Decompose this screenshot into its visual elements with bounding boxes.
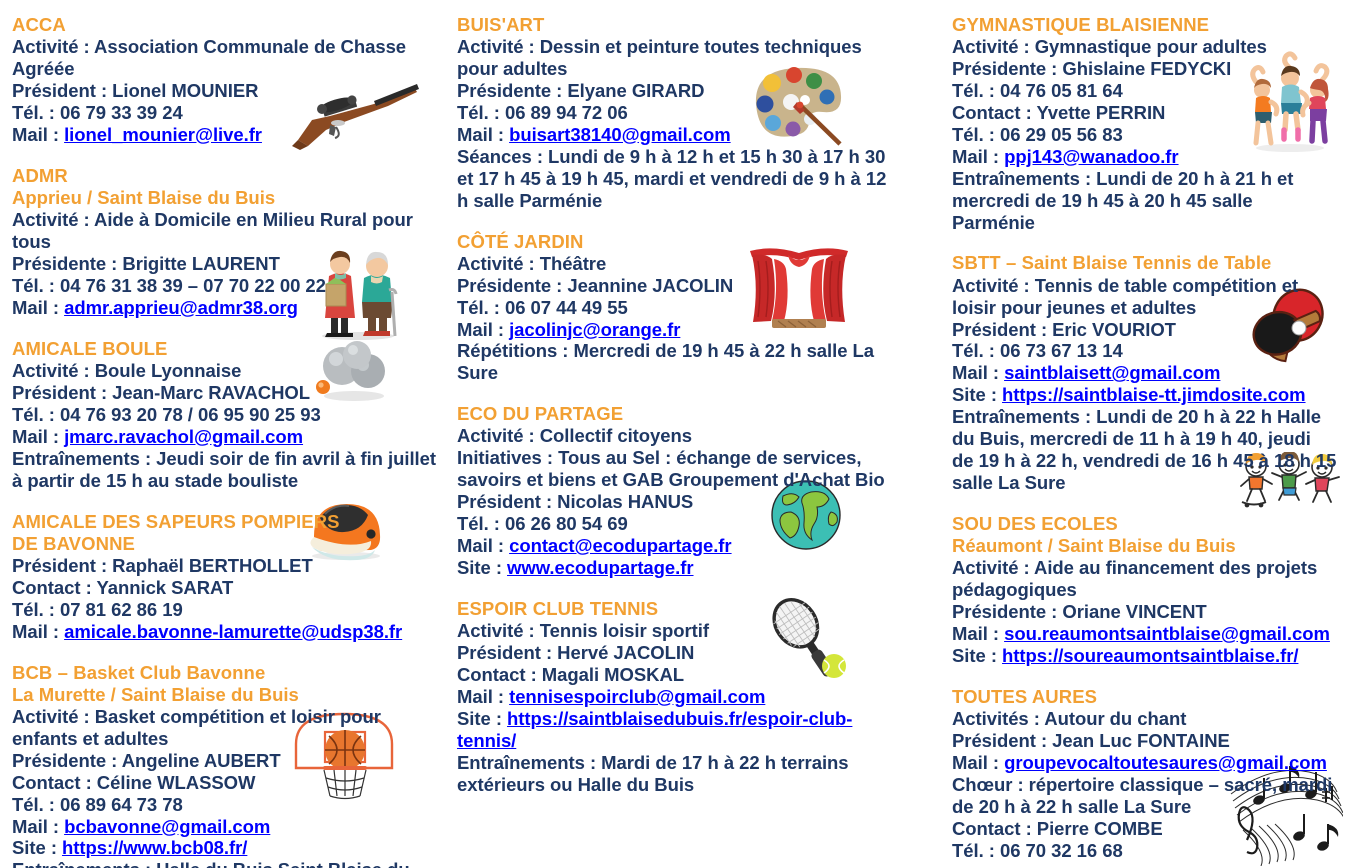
detail-line-link: Mail : contact@ecodupartage.fr (457, 535, 897, 557)
detail-line-link: Site : https://soureaumontsaintblaise.fr… (952, 645, 1337, 667)
association-entry-cote-jardin: CÔTÉ JARDINActivité : ThéâtrePrésidente … (457, 231, 897, 385)
detail-line: Tél. : 06 73 67 13 14 (952, 340, 1337, 362)
association-title: TOUTES AURES (952, 686, 1337, 708)
detail-line-link: Site : https://saintblaisedubuis.fr/espo… (457, 708, 897, 752)
detail-line-link: Mail : buisart38140@gmail.com (457, 124, 897, 146)
detail-line-link: Mail : sou.reaumontsaintblaise@gmail.com (952, 623, 1337, 645)
contact-link[interactable]: jmarc.ravachol@gmail.com (64, 426, 303, 447)
association-title: SBTT – Saint Blaise Tennis de Table (952, 252, 1337, 274)
detail-line-label: Mail : (952, 146, 1004, 167)
detail-line-label: Mail : (457, 535, 509, 556)
contact-link[interactable]: buisart38140@gmail.com (509, 124, 731, 145)
association-title: AMICALE DES SAPEURS POMPIERS (12, 511, 448, 533)
detail-line-link: Site : https://saintblaise-tt.jimdosite.… (952, 384, 1337, 406)
detail-line-link: Mail : saintblaisett@gmail.com (952, 362, 1337, 384)
detail-line-label: Mail : (952, 752, 1004, 773)
detail-line: Présidente : Jeannine JACOLIN (457, 275, 897, 297)
association-entry-amicale-des-sapeurs-pompiers: AMICALE DES SAPEURS POMPIERSDE BAVONNEPr… (12, 511, 448, 643)
association-title: BUIS'ART (457, 14, 897, 36)
detail-line: Contact : Yvette PERRIN (952, 102, 1337, 124)
detail-line: Président : Lionel MOUNIER (12, 80, 448, 102)
detail-line-label: Mail : (457, 319, 509, 340)
detail-line: Activité : Boule Lyonnaise (12, 360, 448, 382)
detail-line: Tél. : 07 81 62 86 19 (12, 599, 448, 621)
detail-line: Présidente : Angeline AUBERT (12, 750, 448, 772)
detail-line: Contact : Magali MOSKAL (457, 664, 897, 686)
detail-line: Contact : Yannick SARAT (12, 577, 448, 599)
association-title: CÔTÉ JARDIN (457, 231, 897, 253)
contact-link[interactable]: https://www.bcb08.fr/ (62, 837, 247, 858)
detail-line-label: Mail : (12, 621, 64, 642)
detail-line-link: Mail : ppj143@wanadoo.fr (952, 146, 1337, 168)
association-title: GYMNASTIQUE BLAISIENNE (952, 14, 1337, 36)
detail-line: Présidente : Oriane VINCENT (952, 601, 1337, 623)
detail-line: Président : Jean Luc FONTAINE (952, 730, 1337, 752)
detail-line-link: Site : www.ecodupartage.fr (457, 557, 897, 579)
detail-line-link: Mail : groupevocaltoutesaures@gmail.com (952, 752, 1337, 774)
association-subtitle: Réaumont / Saint Blaise du Buis (952, 535, 1337, 557)
association-title: ESPOIR CLUB TENNIS (457, 598, 897, 620)
contact-link[interactable]: www.ecodupartage.fr (507, 557, 693, 578)
column-3: GYMNASTIQUE BLAISIENNEActivité : Gymnast… (952, 14, 1337, 862)
detail-line: Tél. : 04 76 93 20 78 / 06 95 90 25 93 (12, 404, 448, 426)
association-entry-espoir-club-tennis: ESPOIR CLUB TENNISActivité : Tennis lois… (457, 598, 897, 796)
detail-line-link: Mail : lionel_mounier@live.fr (12, 124, 448, 146)
contact-link[interactable]: bcbavonne@gmail.com (64, 816, 270, 837)
detail-line: Tél. : 06 89 94 72 06 (457, 102, 897, 124)
detail-line-label: Mail : (457, 124, 509, 145)
association-subtitle: La Murette / Saint Blaise du Buis (12, 684, 448, 706)
contact-link[interactable]: https://saintblaise-tt.jimdosite.com (1002, 384, 1306, 405)
detail-line: Présidente : Ghislaine FEDYCKI (952, 58, 1337, 80)
detail-line: Activité : Aide au financement des proje… (952, 557, 1337, 601)
detail-line-label: Site : (457, 708, 507, 729)
detail-line: Activité : Association Communale de Chas… (12, 36, 448, 80)
detail-line: Entraînements : Lundi de 20 h à 21 h et … (952, 168, 1337, 234)
detail-line: Président : Nicolas HANUS (457, 491, 897, 513)
contact-link[interactable]: https://soureaumontsaintblaise.fr/ (1002, 645, 1298, 666)
detail-line: Entraînements : Halle du Buis Saint Blai… (12, 859, 448, 868)
detail-line-label: Mail : (457, 686, 509, 707)
contact-link[interactable]: sou.reaumontsaintblaise@gmail.com (1004, 623, 1330, 644)
contact-link[interactable]: contact@ecodupartage.fr (509, 535, 732, 556)
detail-line-label: Mail : (12, 426, 64, 447)
detail-line-link: Mail : bcbavonne@gmail.com (12, 816, 448, 838)
association-entry-acca: ACCAActivité : Association Communale de … (12, 14, 448, 146)
association-title: ECO DU PARTAGE (457, 403, 897, 425)
detail-line: Président : Eric VOURIOT (952, 319, 1337, 341)
detail-line-label: Mail : (12, 816, 64, 837)
contact-link[interactable]: ppj143@wanadoo.fr (1004, 146, 1178, 167)
detail-line-label: Mail : (952, 362, 1004, 383)
detail-line-link: Site : https://www.bcb08.fr/ (12, 837, 448, 859)
detail-line-label: Site : (952, 645, 1002, 666)
detail-line: Tél. : 06 79 33 39 24 (12, 102, 448, 124)
association-subtitle: Apprieu / Saint Blaise du Buis (12, 187, 448, 209)
detail-line: Initiatives : Tous au Sel : échange de s… (457, 447, 897, 491)
association-entry-eco-du-partage: ECO DU PARTAGEActivité : Collectif citoy… (457, 403, 897, 579)
association-entry-amicale-boule: AMICALE BOULEActivité : Boule LyonnaiseP… (12, 338, 448, 492)
detail-line: Tél. : 06 70 32 16 68 (952, 840, 1337, 862)
association-title-line2: DE BAVONNE (12, 533, 448, 555)
association-entry-toutes-aures: TOUTES AURESActivités : Autour du chantP… (952, 686, 1337, 862)
contact-link[interactable]: admr.apprieu@admr38.org (64, 297, 298, 318)
detail-line: Répétitions : Mercredi de 19 h 45 à 22 h… (457, 340, 897, 384)
detail-line: Activité : Dessin et peinture toutes tec… (457, 36, 897, 80)
detail-line: Contact : Pierre COMBE (952, 818, 1337, 840)
detail-line: Entraînements : Mardi de 17 h à 22 h ter… (457, 752, 897, 796)
detail-line: Présidente : Elyane GIRARD (457, 80, 897, 102)
detail-line-link: Mail : admr.apprieu@admr38.org (12, 297, 448, 319)
associations-directory-page: ACCAActivité : Association Communale de … (0, 0, 1345, 868)
detail-line: Tél. : 04 76 31 38 39 – 07 70 22 00 22 (12, 275, 448, 297)
detail-line: Tél. : 06 29 05 56 83 (952, 124, 1337, 146)
detail-line-label: Mail : (12, 297, 64, 318)
detail-line: Contact : Céline WLASSOW (12, 772, 448, 794)
detail-line-link: Mail : jmarc.ravachol@gmail.com (12, 426, 448, 448)
detail-line: Entraînements : Lundi de 20 h à 22 h Hal… (952, 406, 1337, 494)
detail-line-label: Site : (12, 837, 62, 858)
detail-line-label: Site : (457, 557, 507, 578)
association-entry-gymnastique-blaisienne: GYMNASTIQUE BLAISIENNEActivité : Gymnast… (952, 14, 1337, 233)
association-entry-admr: ADMRApprieu / Saint Blaise du BuisActivi… (12, 165, 448, 319)
detail-line: Tél. : 06 07 44 49 55 (457, 297, 897, 319)
column-2: BUIS'ARTActivité : Dessin et peinture to… (457, 14, 897, 795)
detail-line-label: Site : (952, 384, 1002, 405)
detail-line: Activité : Tennis de table compétition e… (952, 275, 1337, 319)
detail-line: Activité : Aide à Domicile en Milieu Rur… (12, 209, 448, 253)
detail-line: Activités : Autour du chant (952, 708, 1337, 730)
detail-line: Activité : Collectif citoyens (457, 425, 897, 447)
detail-line: Séances : Lundi de 9 h à 12 h et 15 h 30… (457, 146, 897, 212)
detail-line: Présidente : Brigitte LAURENT (12, 253, 448, 275)
association-entry-sou-des-ecoles: SOU DES ECOLESRéaumont / Saint Blaise du… (952, 513, 1337, 667)
detail-line-link: Mail : amicale.bavonne-lamurette@udsp38.… (12, 621, 448, 643)
contact-link[interactable]: groupevocaltoutesaures@gmail.com (1004, 752, 1327, 773)
association-title: SOU DES ECOLES (952, 513, 1337, 535)
detail-line: Président : Jean-Marc RAVACHOL (12, 382, 448, 404)
contact-link[interactable]: lionel_mounier@live.fr (64, 124, 262, 145)
detail-line: Activité : Théâtre (457, 253, 897, 275)
association-entry-sbtt-saint-blaise-tennis-de-table: SBTT – Saint Blaise Tennis de TableActiv… (952, 252, 1337, 493)
detail-line: Président : Hervé JACOLIN (457, 642, 897, 664)
detail-line: Activité : Tennis loisir sportif (457, 620, 897, 642)
detail-line: Tél. : 04 76 05 81 64 (952, 80, 1337, 102)
contact-link[interactable]: amicale.bavonne-lamurette@udsp38.fr (64, 621, 402, 642)
contact-link[interactable]: tennisespoirclub@gmail.com (509, 686, 765, 707)
detail-line: Activité : Basket compétition et loisir … (12, 706, 448, 750)
contact-link[interactable]: saintblaisett@gmail.com (1004, 362, 1220, 383)
association-title: ADMR (12, 165, 448, 187)
association-title: ACCA (12, 14, 448, 36)
association-title: BCB – Basket Club Bavonne (12, 662, 448, 684)
association-entry-buis-art: BUIS'ARTActivité : Dessin et peinture to… (457, 14, 897, 212)
detail-line-link: Mail : tennisespoirclub@gmail.com (457, 686, 897, 708)
contact-link[interactable]: jacolinjc@orange.fr (509, 319, 680, 340)
contact-link[interactable]: https://saintblaisedubuis.fr/espoir-club… (457, 708, 852, 751)
association-title: AMICALE BOULE (12, 338, 448, 360)
detail-line: Activité : Gymnastique pour adultes (952, 36, 1337, 58)
detail-line-label: Mail : (12, 124, 64, 145)
detail-line: Président : Raphaël BERTHOLLET (12, 555, 448, 577)
detail-line: Tél. : 06 89 64 73 78 (12, 794, 448, 816)
column-1: ACCAActivité : Association Communale de … (12, 14, 448, 868)
detail-line-label: Mail : (952, 623, 1004, 644)
detail-line: Entraînements : Jeudi soir de fin avril … (12, 448, 448, 492)
association-entry-bcb-basket-club-bavonne: BCB – Basket Club BavonneLa Murette / Sa… (12, 662, 448, 868)
detail-line: Tél. : 06 26 80 54 69 (457, 513, 897, 535)
detail-line: Chœur : répertoire classique – sacré, ma… (952, 774, 1337, 818)
detail-line-link: Mail : jacolinjc@orange.fr (457, 319, 897, 341)
